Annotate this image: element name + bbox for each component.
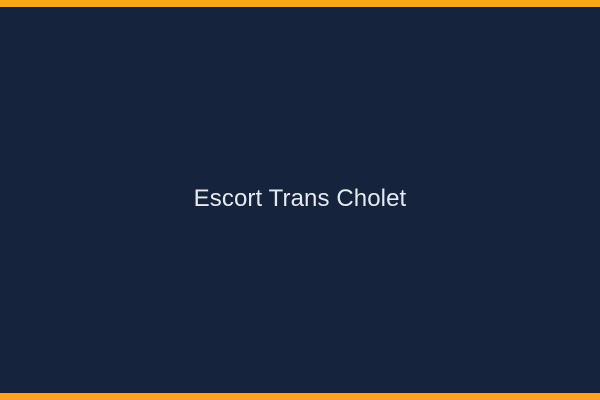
bottom-accent-bar [0, 393, 600, 400]
page-title: Escort Trans Cholet [194, 185, 407, 214]
card-body: Escort Trans Cholet [0, 7, 600, 393]
placeholder-card: Escort Trans Cholet [0, 0, 600, 400]
top-accent-bar [0, 0, 600, 7]
